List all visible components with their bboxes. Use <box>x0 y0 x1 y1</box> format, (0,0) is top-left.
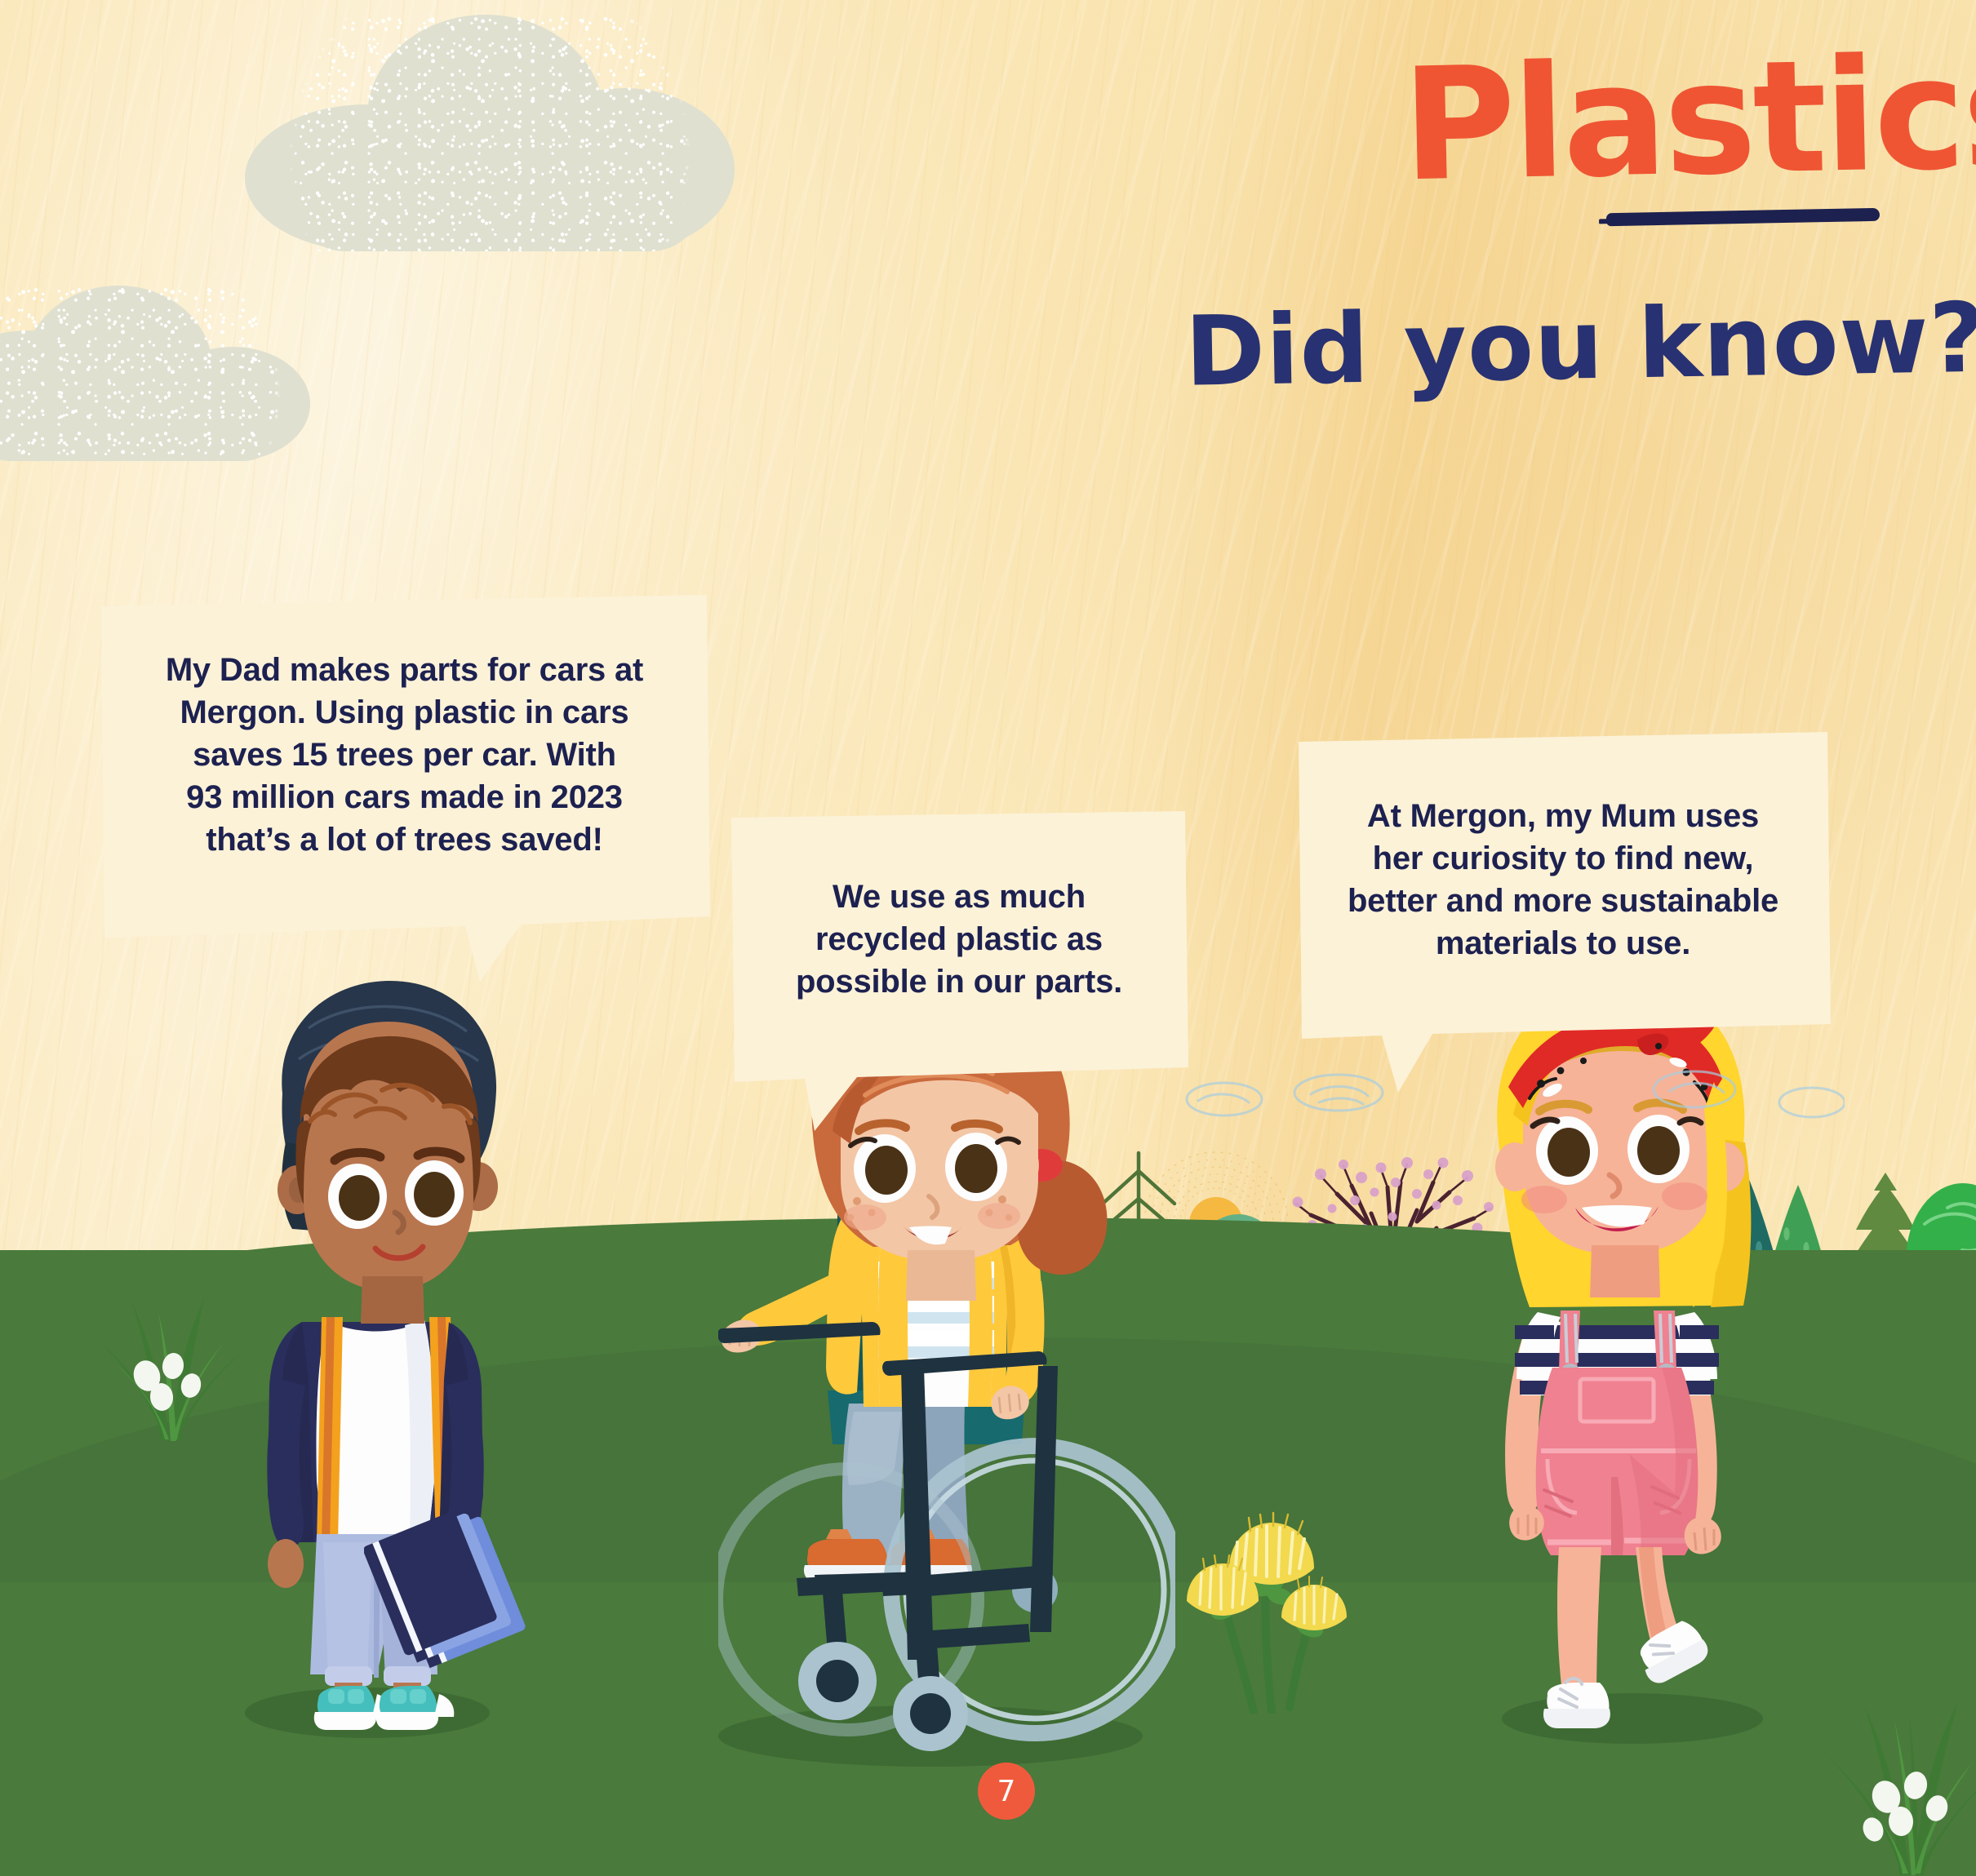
plant-snowdrops-right <box>1808 1640 1976 1876</box>
bubble-dad-cars-text: My Dad makes parts for cars at Mergon. U… <box>166 649 643 861</box>
bubble-recycled-plastic: We use as much recycled plastic as possi… <box>726 808 1192 1098</box>
bubble-mum-curiosity-body: At Mergon, my Mum uses her curiosity to … <box>1294 730 1832 1029</box>
bubble-recycled-plastic-text: We use as much recycled plastic as possi… <box>796 876 1122 1003</box>
bubble-dad-cars: My Dad makes parts for cars at Mergon. U… <box>96 592 713 934</box>
character-girl-in-wheelchair <box>718 1061 1175 1779</box>
cloud-small <box>0 286 310 461</box>
cloud-large <box>245 15 735 251</box>
page-subtitle: Did you know?... <box>1184 279 1976 407</box>
bubble-recycled-plastic-body: We use as much recycled plastic as possi… <box>726 808 1192 1071</box>
bubble-dad-cars-body: My Dad makes parts for cars at Mergon. U… <box>96 592 713 918</box>
bubble-mum-curiosity: At Mergon, my Mum uses her curiosity to … <box>1294 730 1832 1057</box>
page-title: Plastics <box>1401 22 1976 216</box>
flowers-dandelions <box>1175 1493 1371 1714</box>
illustration-page: My Dad makes parts for cars at Mergon. U… <box>0 0 1976 1876</box>
bubble-mum-curiosity-text: At Mergon, my Mum uses her curiosity to … <box>1348 795 1778 965</box>
page-number-badge: 7 <box>978 1763 1035 1820</box>
character-boy-with-cap <box>204 971 547 1738</box>
